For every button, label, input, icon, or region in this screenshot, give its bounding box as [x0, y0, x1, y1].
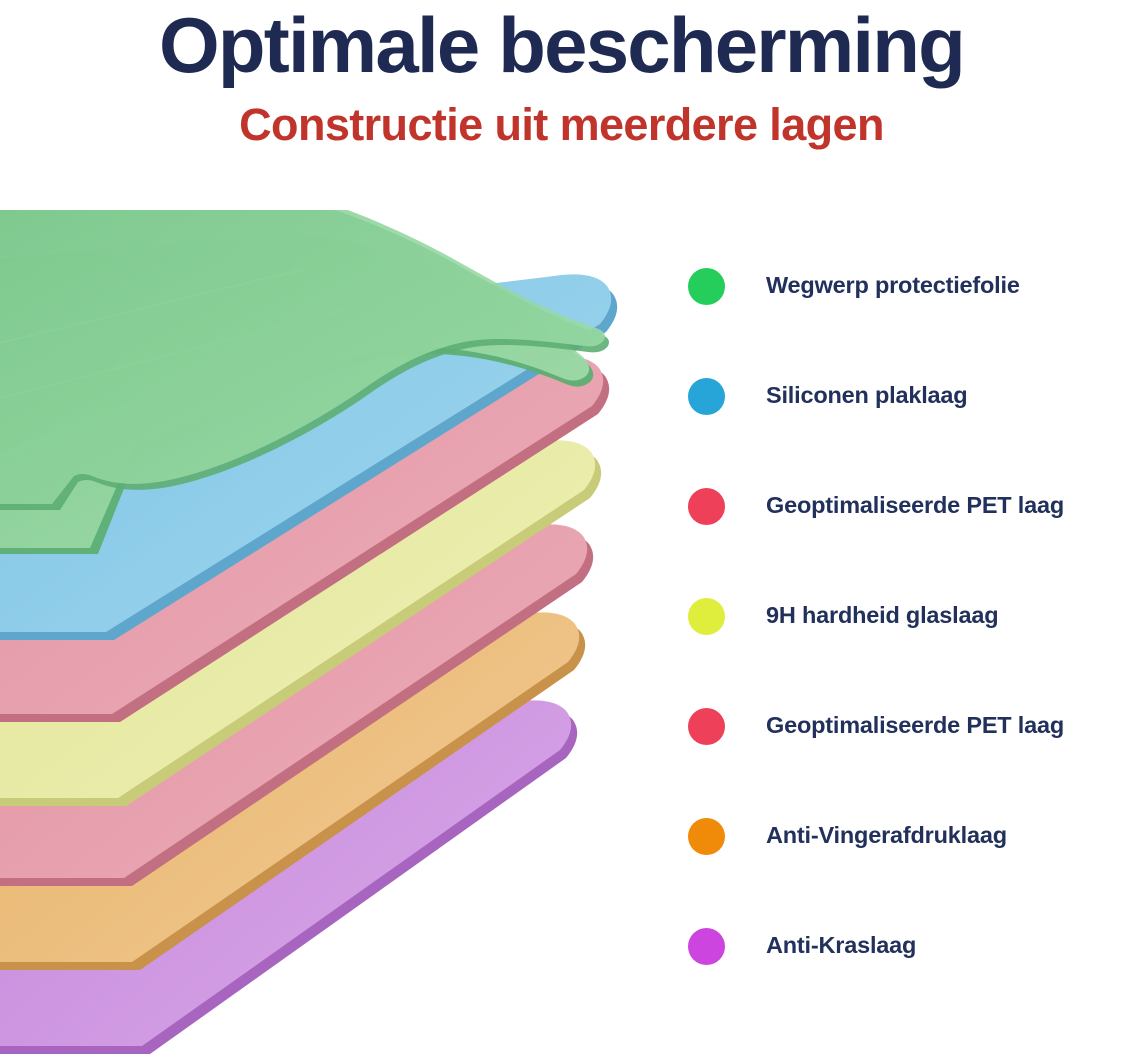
legend-item-label: 9H hardheid glaslaag [766, 602, 998, 629]
legend-item-anti-vingerafdruklaag[interactable]: Anti-Vingerafdruklaag [688, 812, 1123, 922]
layer-legend: Wegwerp protectiefolie Siliconen plaklaa… [688, 262, 1123, 1032]
page-title: Optimale bescherming [0, 6, 1123, 84]
legend-item-label: Anti-Vingerafdruklaag [766, 822, 1007, 849]
header: Optimale bescherming Constructie uit mee… [0, 0, 1123, 147]
legend-dot-icon [688, 598, 725, 635]
legend-dot-icon [688, 488, 725, 525]
legend-item-siliconen-plaklaag[interactable]: Siliconen plaklaag [688, 372, 1123, 482]
layer-stack-illustration [0, 210, 640, 1054]
legend-item-label: Siliconen plaklaag [766, 382, 967, 409]
legend-item-anti-kraslaag[interactable]: Anti-Kraslaag [688, 922, 1123, 1032]
legend-dot-icon [688, 268, 725, 305]
legend-dot-icon [688, 378, 725, 415]
legend-dot-icon [688, 708, 725, 745]
legend-dot-icon [688, 818, 725, 855]
legend-dot-icon [688, 928, 725, 965]
legend-item-geoptimaliseerde-pet-laag-1[interactable]: Geoptimaliseerde PET laag [688, 482, 1123, 592]
legend-item-label: Geoptimaliseerde PET laag [766, 712, 1064, 739]
legend-item-label: Geoptimaliseerde PET laag [766, 492, 1064, 519]
legend-item-label: Wegwerp protectiefolie [766, 272, 1020, 299]
legend-item-label: Anti-Kraslaag [766, 932, 916, 959]
legend-item-geoptimaliseerde-pet-laag-2[interactable]: Geoptimaliseerde PET laag [688, 702, 1123, 812]
legend-item-wegwerp-protectiefolie[interactable]: Wegwerp protectiefolie [688, 262, 1123, 372]
page-subtitle: Constructie uit meerdere lagen [0, 84, 1123, 147]
legend-item-9h-hardheid-glaslaag[interactable]: 9H hardheid glaslaag [688, 592, 1123, 702]
